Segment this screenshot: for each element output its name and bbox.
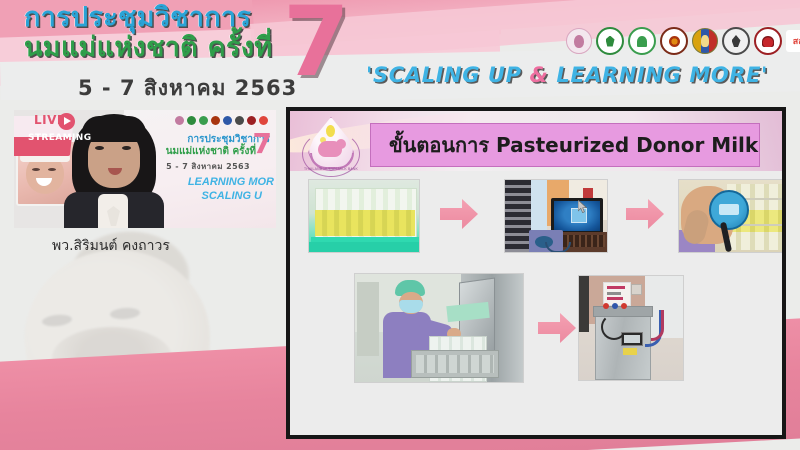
royal-thai-government-logo: [692, 28, 718, 54]
machine-knob-red-2: [621, 303, 627, 309]
tagline-prefix: 'SCALING UP: [366, 63, 530, 87]
human-milk-bank-logo: THAILAND HUMAN MILK BANK: [300, 117, 362, 179]
slide-title-banner: ขั้นตอนการ Pasteurized Donor Milk: [370, 123, 760, 167]
department-of-health-logo: [628, 27, 656, 55]
poster-logo-2: [187, 116, 196, 125]
poster-logo-4: [211, 116, 220, 125]
poster-tagline-line2: SCALING U: [202, 190, 263, 202]
poster-child-eye-left: [32, 168, 40, 171]
poster-date: 5 - 7 สิงหาคม 2563: [166, 160, 250, 173]
lab-cabinet: [357, 282, 379, 356]
slide-panel: THAILAND HUMAN MILK BANK ขั้นตอนการ Past…: [286, 107, 786, 439]
milk-fill: [315, 210, 415, 236]
machine-knob-red-1: [603, 303, 609, 309]
sign-line-2: [607, 292, 621, 295]
poster-edition-number: 7: [253, 130, 272, 158]
tagline-ampersand: &: [530, 63, 549, 87]
poster-logo-7: [247, 116, 256, 125]
stainless-freezer-machine-photo: [578, 275, 684, 381]
poster-logo-8: [259, 116, 268, 125]
conference-tagline: 'SCALING UP & LEARNING MORE': [366, 63, 768, 87]
presentation-stage: การประชุมวิชาการ นมแม่แห่งชาติ ครั้งที่ …: [0, 0, 800, 450]
slide-bottom-margin: [290, 411, 782, 435]
process-arrow-3-icon: [538, 313, 576, 343]
thaihealth-sss-logo: [786, 30, 800, 52]
poster-logo-3: [199, 116, 208, 125]
process-arrow-1-icon: [440, 199, 478, 229]
royal-college-logo: [660, 27, 688, 55]
poster-title-line2: นมแม่แห่งชาติ ครั้งที่: [166, 144, 256, 159]
machine-knob-blue: [612, 303, 618, 309]
tagline-suffix: LEARNING MORE': [548, 63, 768, 87]
poster-child-eye-right: [48, 168, 56, 171]
conference-title: การประชุมวิชาการ นมแม่แห่งชาติ ครั้งที่: [24, 4, 294, 61]
watermark-eye-right: [110, 307, 141, 320]
speaker-fringe: [82, 116, 146, 142]
mouse-cursor-icon: [578, 200, 587, 213]
blue-timer-device: [709, 190, 749, 230]
process-row-1: [290, 177, 782, 265]
thai-breastfeeding-foundation-logo: [566, 28, 592, 54]
sponsor-logos: [566, 27, 800, 55]
sign-line-1: [607, 286, 625, 289]
speaker-person: [60, 110, 168, 228]
rack-floor: [309, 242, 419, 252]
machine-power-cable: [601, 314, 627, 340]
machine-label-sticker: [623, 348, 637, 355]
nurse-loading-pasteurizer-photo: [354, 273, 524, 383]
laptop-barcode-scanner-photo: [504, 179, 608, 253]
room-dark-edge: [579, 276, 589, 332]
speaker-name-label: พว.สิริมนต์ คงถาวร: [52, 235, 170, 257]
national-institute-logo: [722, 27, 750, 55]
wall-switch: [631, 284, 642, 295]
process-arrow-2-icon: [626, 199, 664, 229]
pediatric-society-logo: [754, 27, 782, 55]
speaker-eye-right: [122, 146, 131, 150]
conference-title-line2: นมแม่แห่งชาติ ครั้งที่: [24, 34, 294, 62]
speaker-eye-left: [95, 146, 104, 150]
streaming-badge-label: STREAMING: [28, 133, 92, 143]
slide-title-text: ขั้นตอนการ Pasteurized Donor Milk: [389, 129, 758, 161]
conference-title-line1: การประชุมวิชาการ: [24, 4, 294, 32]
watermark-eye-left: [42, 313, 73, 327]
poster-logo-row: [175, 116, 268, 125]
hand-timer-device-photo: [678, 179, 786, 253]
sign-line-3: [607, 297, 623, 300]
speaker-video-feed[interactable]: การประชุมวิชาการ นมแม่แห่งชาติ ครั้งที่ …: [14, 110, 276, 228]
conference-header: การประชุมวิชาการ นมแม่แห่งชาติ ครั้งที่ …: [0, 0, 800, 100]
poster-logo-5: [223, 116, 232, 125]
poster-tagline-line1: LEARNING MOR: [188, 176, 274, 188]
milk-bottles-racks-photo: [308, 179, 420, 253]
play-icon: [58, 113, 75, 130]
background-blinds: [505, 180, 531, 253]
pasteurizer-tray: [411, 350, 499, 378]
poster-logo-1: [175, 116, 184, 125]
conference-date: 5 - 7 สิงหาคม 2563: [78, 72, 297, 100]
poster-logo-6: [235, 116, 244, 125]
process-row-2: [290, 269, 782, 419]
logo-caption: THAILAND HUMAN MILK BANK: [300, 167, 362, 171]
ministry-of-public-health-logo: [596, 27, 624, 55]
